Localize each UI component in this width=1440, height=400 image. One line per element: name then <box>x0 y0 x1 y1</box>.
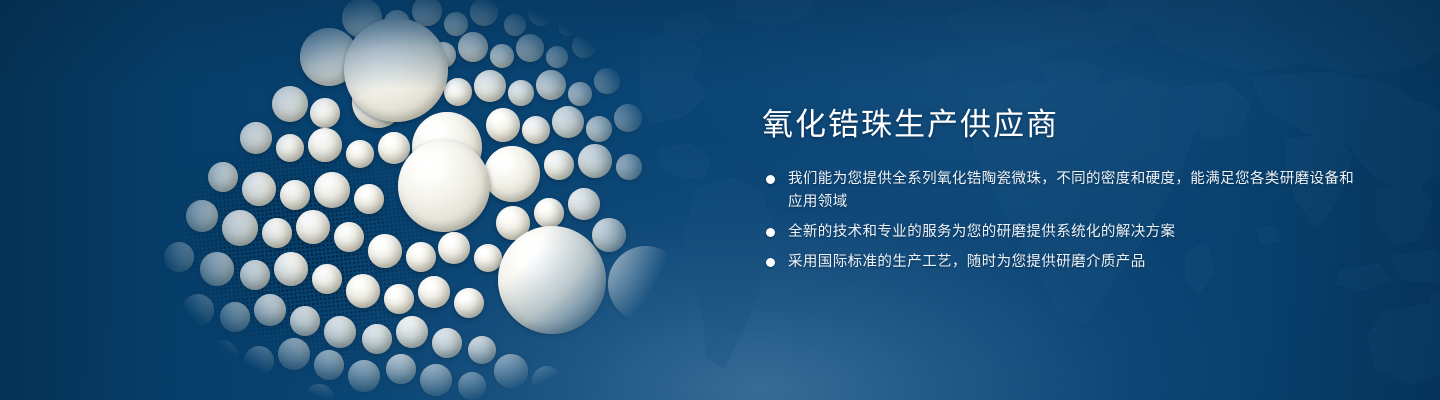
banner-copy: 氧化锆珠生产供应商 我们能为您提供全系列氧化锆陶瓷微珠，不同的密度和硬度，能满足… <box>762 104 1362 274</box>
zirconia-beads-photo <box>112 0 752 400</box>
list-item: 我们能为您提供全系列氧化锆陶瓷微珠，不同的密度和硬度，能满足您各类研磨设备和应用… <box>762 168 1362 214</box>
list-item: 全新的技术和专业的服务为您的研磨提供系统化的解决方案 <box>762 221 1362 244</box>
list-item-text: 我们能为您提供全系列氧化锆陶瓷微珠，不同的密度和硬度，能满足您各类研磨设备和应用… <box>788 171 1354 210</box>
bullet-dot-icon <box>766 175 775 184</box>
banner-feature-list: 我们能为您提供全系列氧化锆陶瓷微珠，不同的密度和硬度，能满足您各类研磨设备和应用… <box>762 168 1362 274</box>
list-item-text: 全新的技术和专业的服务为您的研磨提供系统化的解决方案 <box>788 224 1175 240</box>
list-item: 采用国际标准的生产工艺，随时为您提供研磨介质产品 <box>762 251 1362 274</box>
bullet-dot-icon <box>766 258 775 267</box>
hero-banner: 氧化锆珠生产供应商 我们能为您提供全系列氧化锆陶瓷微珠，不同的密度和硬度，能满足… <box>0 0 1440 400</box>
banner-headline: 氧化锆珠生产供应商 <box>762 104 1362 146</box>
bullet-dot-icon <box>766 228 775 237</box>
list-item-text: 采用国际标准的生产工艺，随时为您提供研磨介质产品 <box>788 254 1146 270</box>
